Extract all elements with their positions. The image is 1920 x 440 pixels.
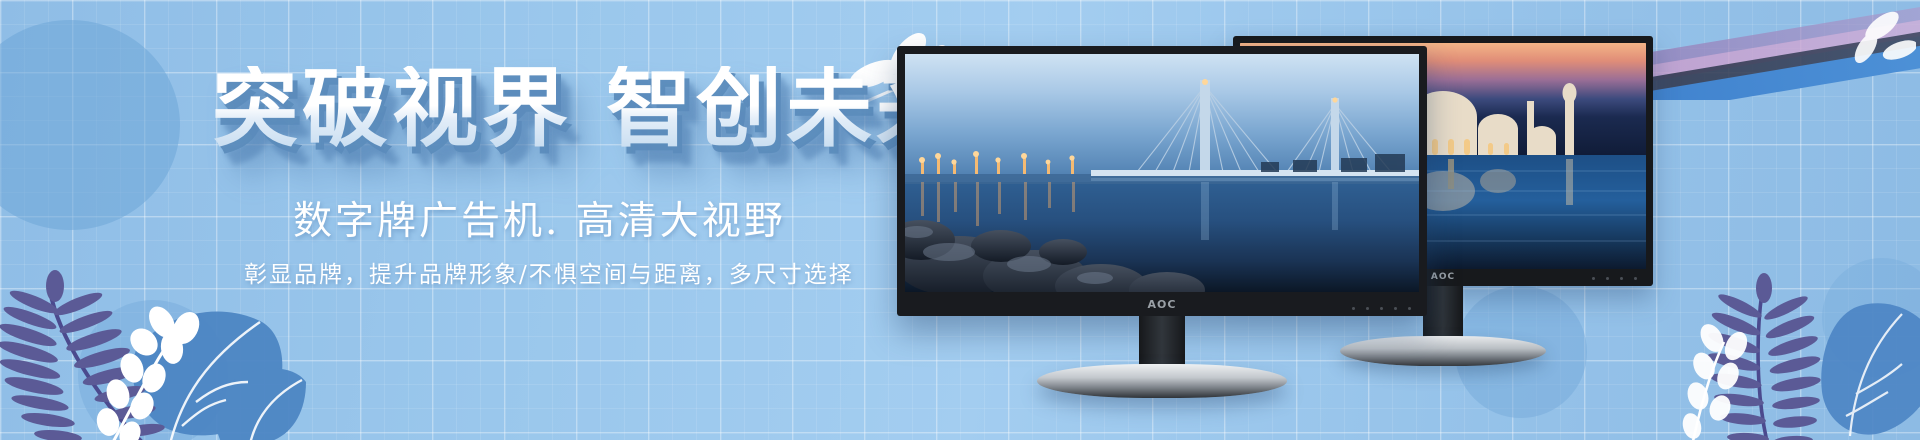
sprig-leaf-icon bbox=[1680, 320, 1751, 440]
monitor-primary-screen bbox=[905, 54, 1419, 292]
monitor-primary-brand: AOC bbox=[1148, 298, 1177, 311]
monitor-primary-stand-base bbox=[1037, 364, 1287, 398]
promo-banner: 突破视界 智创未来 数字牌广告机. 高清大视野 彰显品牌，提升品牌形象/不惧空间… bbox=[0, 0, 1920, 440]
monstera-leaf-icon bbox=[132, 311, 306, 440]
decor-circle-bottom-left bbox=[78, 300, 228, 440]
ribbon-violet bbox=[1645, 0, 1920, 66]
headline: 突破视界 智创未来 bbox=[212, 66, 966, 152]
subtitle-secondary: 彰显品牌，提升品牌形象/不惧空间与距离，多尺寸选择 bbox=[244, 255, 854, 289]
botanical-cluster-left bbox=[0, 182, 306, 440]
sprig-leaf-icon bbox=[94, 302, 205, 440]
botanical-cluster-right bbox=[1640, 196, 1920, 440]
branch-leaf-icon bbox=[1796, 0, 1916, 120]
monitor-primary-bezel-dots bbox=[1352, 307, 1411, 310]
monitor-primary: AOC bbox=[897, 46, 1427, 394]
monitor-secondary-bezel-dots bbox=[1592, 277, 1637, 280]
fern-leaf-icon bbox=[0, 270, 166, 440]
fern-leaf-icon bbox=[1706, 273, 1821, 440]
monitor-primary-panel: AOC bbox=[897, 46, 1427, 316]
decor-circle-right bbox=[1822, 258, 1920, 378]
monstera-leaf-icon bbox=[1821, 303, 1920, 434]
monitor-secondary-brand: AOC bbox=[1431, 272, 1455, 282]
decor-circle-top-left bbox=[0, 20, 180, 230]
monitor-secondary-stand-neck bbox=[1423, 286, 1463, 342]
subtitle-primary: 数字牌广告机. 高清大视野 bbox=[293, 190, 786, 246]
